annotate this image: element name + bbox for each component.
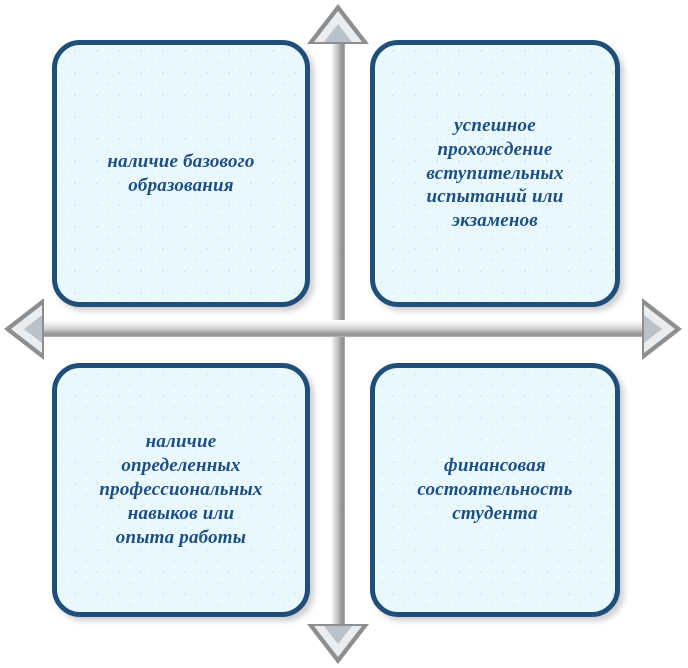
quadrant-label-bottom-right: финансовая состоятельность студента — [417, 454, 572, 526]
quadrant-box-top-right[interactable]: успешное прохождение вступительных испыт… — [370, 40, 620, 307]
arrow-down-core-shape — [324, 626, 352, 644]
quadrant-box-bottom-left[interactable]: наличие определенных профессиональных на… — [52, 363, 310, 617]
arrow-right-core-shape — [644, 315, 662, 343]
quadrant-label-top-right: успешное прохождение вступительных испыт… — [426, 114, 563, 234]
quadrant-label-bottom-left: наличие определенных профессиональных на… — [99, 430, 262, 550]
quadrant-box-top-left[interactable]: наличие базового образования — [52, 40, 310, 307]
arrow-up-core-shape — [324, 24, 352, 42]
arrow-down-icon — [307, 624, 369, 664]
quadrant-label-top-left: наличие базового образования — [107, 150, 254, 198]
quadrant-diagram: наличие базового образования успешное пр… — [0, 0, 688, 668]
horizontal-axis-bar — [26, 320, 662, 337]
quadrant-box-bottom-right[interactable]: финансовая состоятельность студента — [370, 363, 620, 617]
arrow-right-icon — [642, 298, 684, 360]
arrow-left-core-shape — [24, 315, 42, 343]
arrow-left-icon — [4, 298, 46, 360]
arrow-up-icon — [307, 4, 369, 44]
